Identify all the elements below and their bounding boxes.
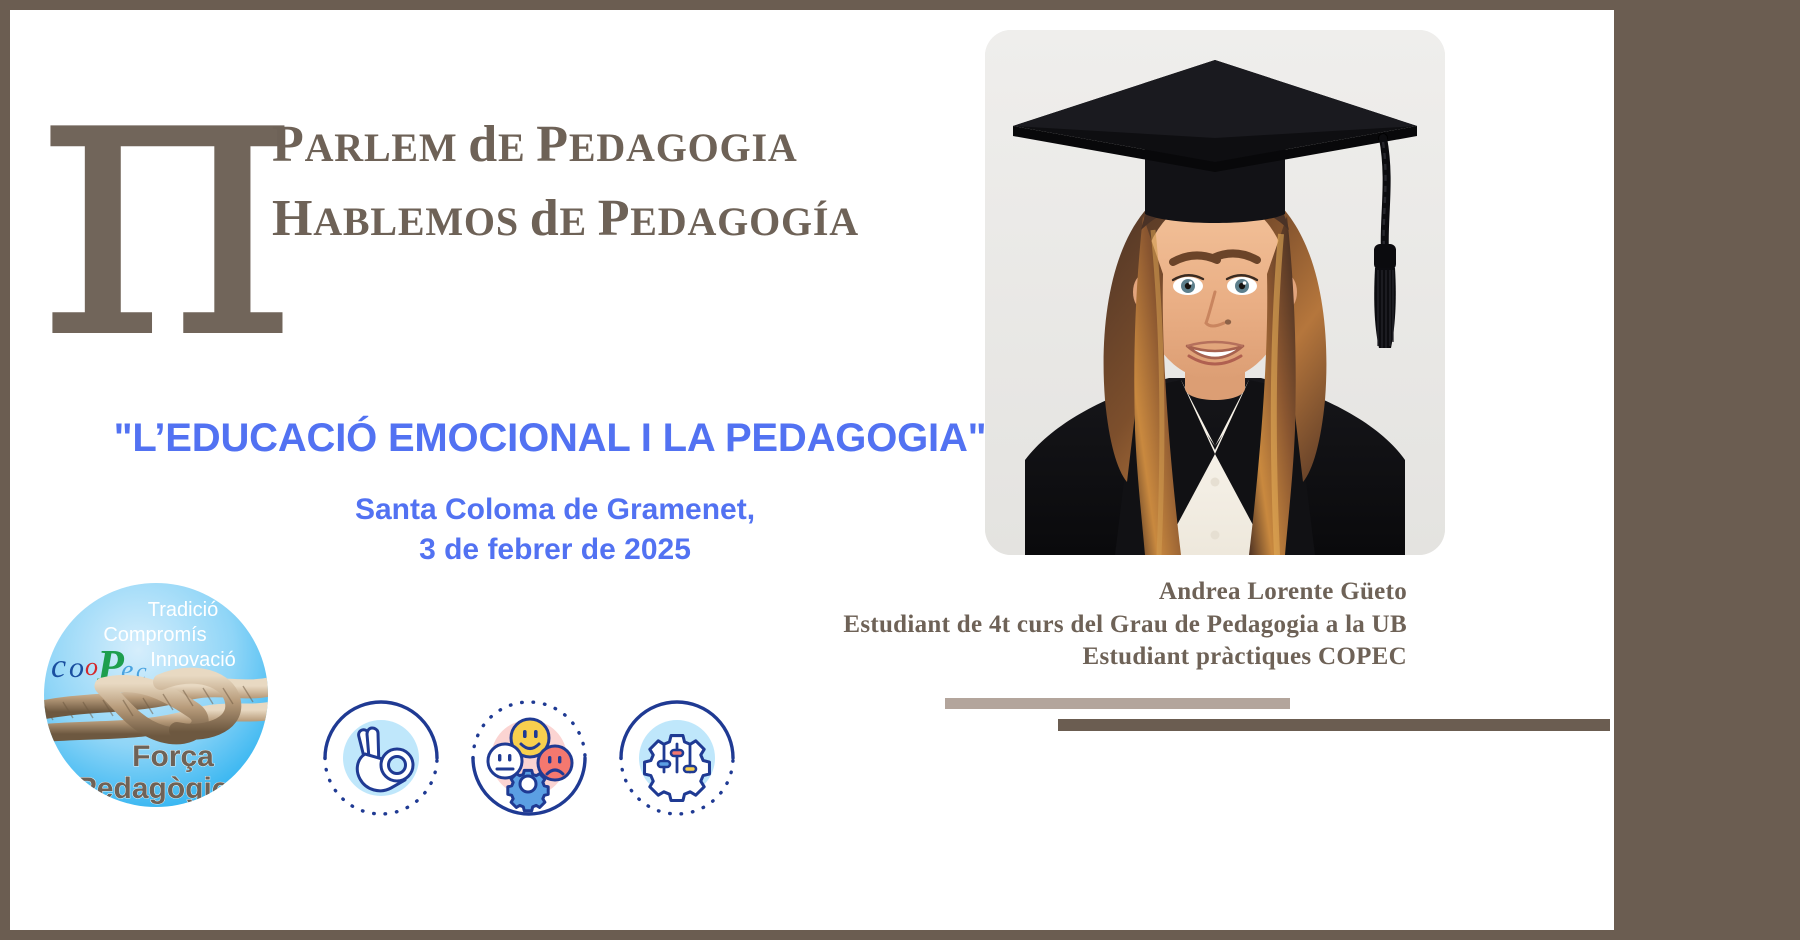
concept-icons (315, 658, 775, 828)
concept-icons-svg (315, 658, 775, 828)
talk-place: Santa Coloma de Gramenet, (10, 490, 1100, 530)
speaker-photo-svg (985, 30, 1445, 555)
talk-date: 3 de febrer de 2025 (10, 530, 1100, 570)
gear-sliders-icon (621, 702, 733, 814)
copec-logo-svg: Tradició Compromís Innovació c o o P e c (43, 582, 269, 808)
speaker-credit: Andrea Lorente Güeto Estudiant de 4t cur… (647, 576, 1407, 674)
copec-motto-2: Pedagògica (77, 772, 246, 805)
header-title-catalan-text: PARLEM dE PEDAGOGIA (272, 125, 798, 170)
speaker-photo (985, 30, 1445, 555)
copec-motto-1: Força (132, 740, 214, 773)
header-titles: PARLEM dE PEDAGOGIA HABLEMOS dE PEDAGOGÍ… (272, 108, 892, 256)
speaker-role-1: Estudiant de 4t curs del Grau de Pedagog… (647, 609, 1407, 642)
header-title-spanish-text: HABLEMOS dE PEDAGOGÍA (272, 199, 859, 244)
speaker-role-2: Estudiant pràctiques COPEC (647, 641, 1407, 674)
emotion-faces-icon (473, 702, 585, 814)
header-title-catalan: PARLEM dE PEDAGOGIA (272, 108, 892, 182)
decor-bar-dark (1058, 719, 1610, 731)
decor-bar-light (945, 698, 1290, 709)
copec-tagline-1: Tradició (148, 599, 218, 621)
copec-logo: Tradició Compromís Innovació c o o P e c (43, 582, 269, 808)
poster-root: π PARLEM dE PEDAGOGIA HABLEMOS dE PEDAGO… (0, 0, 1800, 940)
header-title-spanish: HABLEMOS dE PEDAGOGÍA (272, 182, 892, 256)
ok-hand-icon (325, 702, 437, 814)
talk-place-date: Santa Coloma de Gramenet, 3 de febrer de… (10, 490, 1100, 570)
svg-text:o: o (69, 651, 84, 684)
speaker-name: Andrea Lorente Güeto (647, 576, 1407, 609)
talk-title: "L’EDUCACIÓ EMOCIONAL I LA PEDAGOGIA" (10, 416, 1090, 461)
svg-text:c: c (51, 648, 66, 685)
